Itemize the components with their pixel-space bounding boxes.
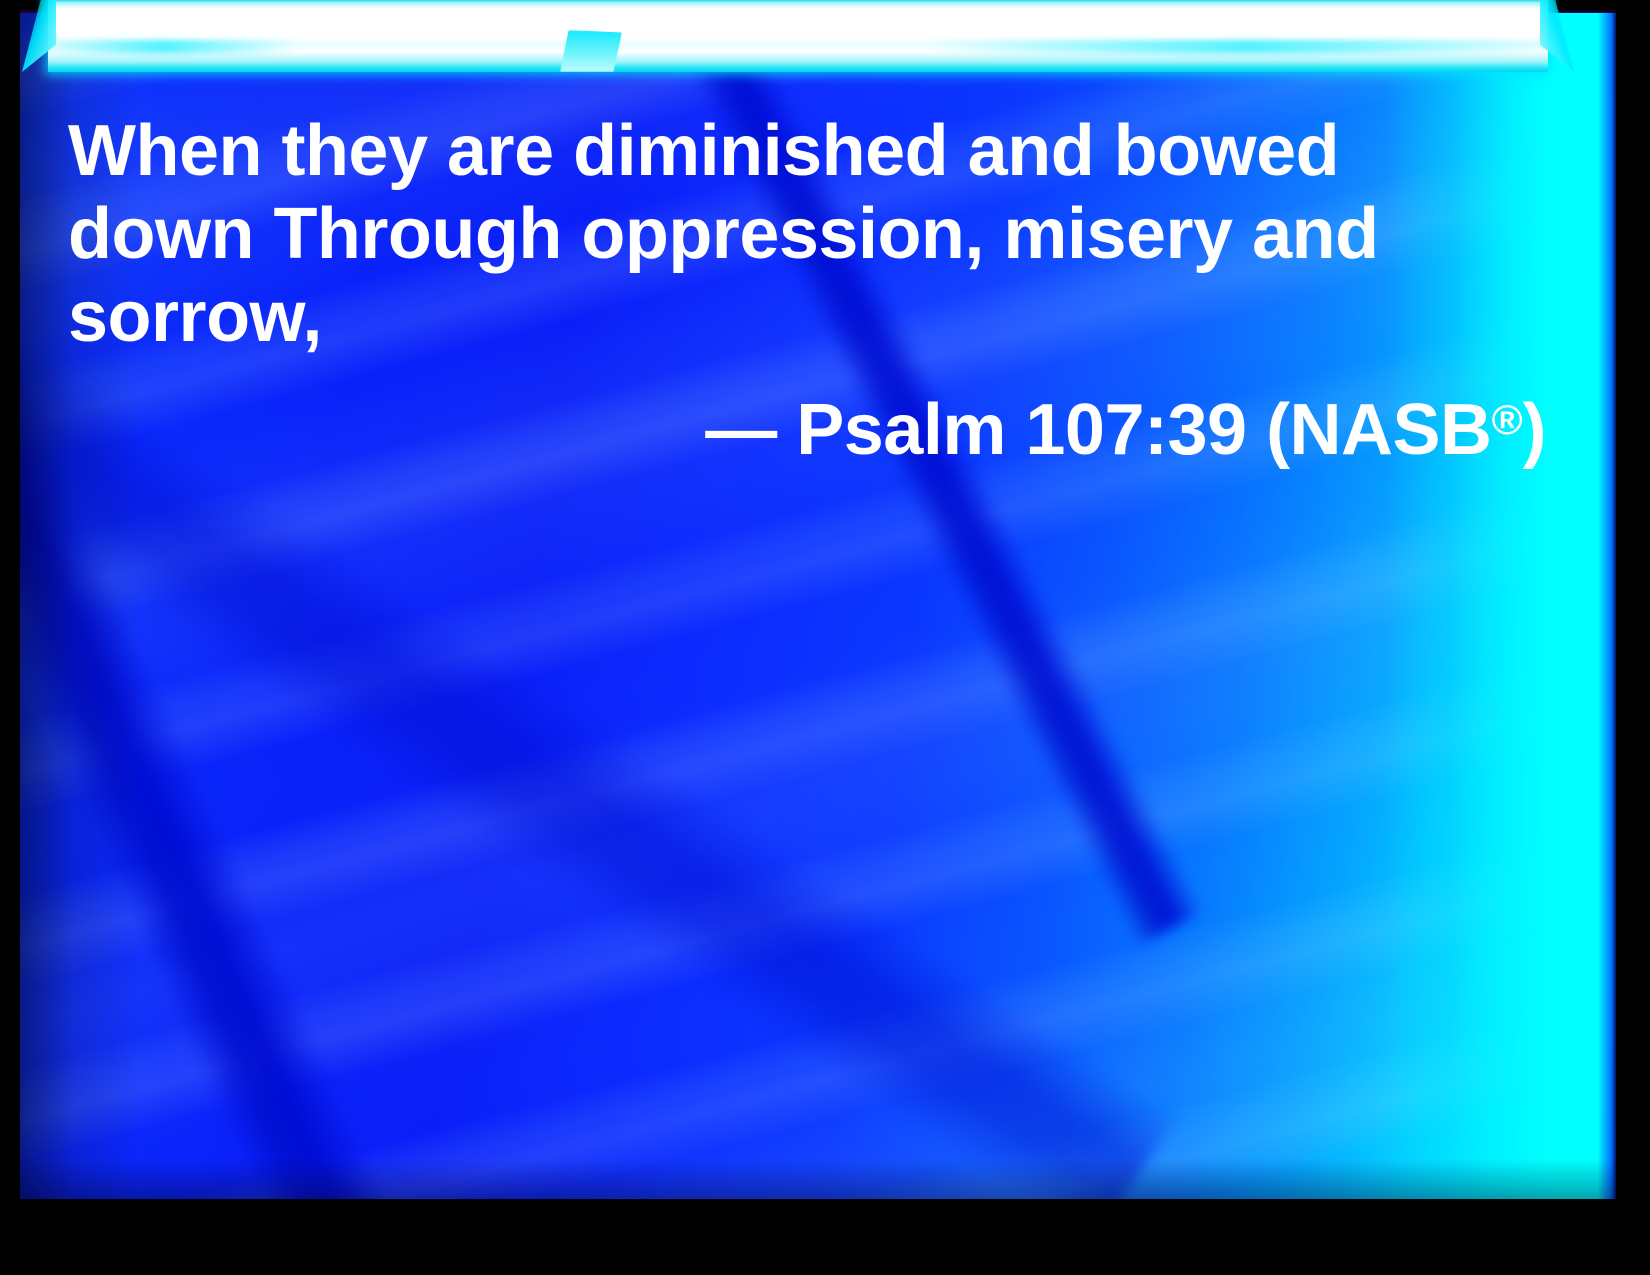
- band-smear-left: [28, 40, 298, 54]
- band-cyan-notch: [560, 30, 622, 72]
- verse-line-2: down Through oppression, misery and: [68, 193, 1528, 276]
- attribution-translation-open: (NASB: [1266, 390, 1492, 470]
- verse-attribution: — Psalm 107:39 (NASB®): [68, 378, 1546, 472]
- registered-trademark-icon: ®: [1492, 396, 1523, 443]
- verse-line-3: sorrow,: [68, 276, 1528, 359]
- attribution-dash: —: [705, 390, 777, 470]
- verse-line-1: When they are diminished and bowed: [68, 110, 1528, 193]
- verse-text-block: When they are diminished and bowed down …: [68, 110, 1528, 359]
- attribution-reference: Psalm 107:39: [796, 390, 1246, 470]
- top-highlight-band: [48, 0, 1548, 72]
- slide: When they are diminished and bowed down …: [0, 0, 1650, 1275]
- attribution-spacer-1: [777, 390, 797, 470]
- bottom-edge-vignette: [20, 1159, 1616, 1199]
- band-smear-right: [928, 40, 1568, 54]
- attribution-spacer-2: [1247, 390, 1267, 470]
- attribution-translation-close: ): [1523, 390, 1546, 470]
